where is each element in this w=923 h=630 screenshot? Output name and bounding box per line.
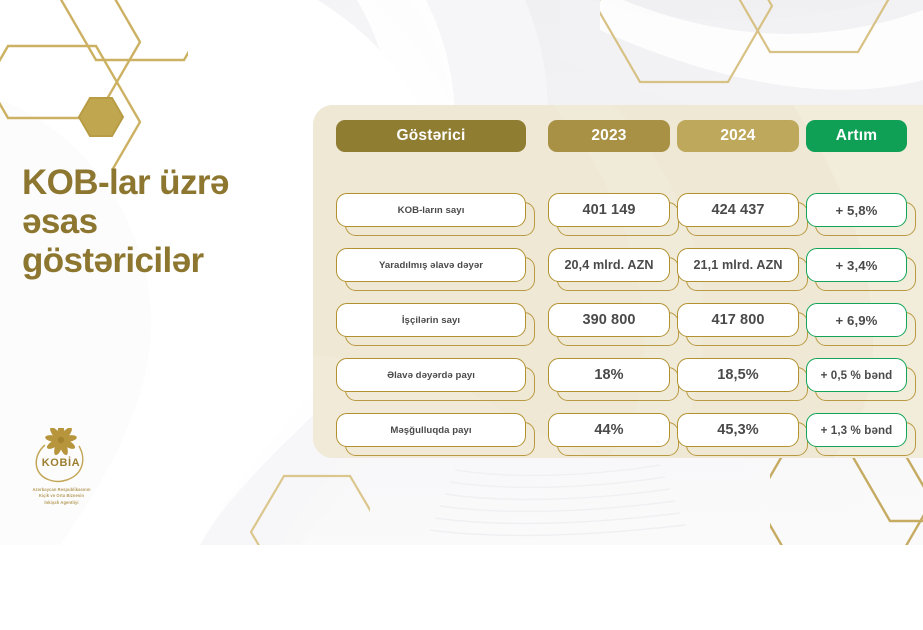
cell-value-growth: + 6,9%: [835, 313, 877, 328]
table-cell-2024: 21,1 mlrd. AZN: [677, 248, 799, 282]
page-title: KOB-lar üzrə əsas göstəricilər: [22, 163, 292, 281]
table-cell-growth: + 6,9%: [806, 303, 907, 337]
cell-value-growth: + 0,5 % bənd: [821, 369, 893, 382]
table-cell-2023: 20,4 mlrd. AZN: [548, 248, 670, 282]
cell-value-growth: + 3,4%: [835, 258, 877, 273]
kobia-logo-subtitle: Azərbaycan Respublikasının Kiçik və Orta…: [14, 487, 109, 506]
slide-canvas: KOB-lar üzrə əsas göstəricilər KOBİA: [0, 0, 923, 545]
cell-value-2023: 44%: [594, 422, 623, 438]
table-cell-2024: 424 437: [677, 193, 799, 227]
cell-value-2023: 401 149: [582, 202, 635, 218]
table-cell-growth: + 5,8%: [806, 193, 907, 227]
cell-value-2024: 417 800: [711, 312, 764, 328]
kobia-subtitle-line-3: İnkişafı Agentliyi: [14, 500, 109, 506]
table-header-2024-label: 2024: [677, 120, 799, 152]
table-row: KOB-ların sayı: [336, 193, 526, 227]
table-cell-2023: 390 800: [548, 303, 670, 337]
table-header-2024: 2024: [677, 120, 799, 152]
cell-indicator: İşçilərin sayı: [402, 315, 460, 326]
cell-value-2024: 45,3%: [717, 422, 759, 438]
page-title-line-3: göstəricilər: [22, 241, 292, 280]
page-title-line-2: əsas: [22, 202, 292, 241]
cell-value-2023: 20,4 mlrd. AZN: [564, 258, 653, 272]
table-row: İşçilərin sayı: [336, 303, 526, 337]
cell-indicator: Əlavə dəyərdə payı: [387, 370, 475, 381]
table-cell-growth: + 0,5 % bənd: [806, 358, 907, 392]
table-header-growth: Artım: [806, 120, 907, 152]
table-cell-2024: 417 800: [677, 303, 799, 337]
table-cell-2023: 44%: [548, 413, 670, 447]
hexagon-decoration-bottom-left: [250, 470, 370, 545]
table-cell-growth: + 3,4%: [806, 248, 907, 282]
table-cell-2024: 45,3%: [677, 413, 799, 447]
cell-value-growth: + 5,8%: [835, 203, 877, 218]
cell-indicator: Məşğulluqda payı: [390, 425, 471, 436]
table-cell-2024: 18,5%: [677, 358, 799, 392]
kobia-logo: KOBİA Azərbaycan Respublikasının Kiçik v…: [14, 428, 109, 506]
hexagon-decoration-top-left: [0, 0, 188, 170]
cell-indicator: KOB-ların sayı: [398, 205, 465, 216]
table-row: Məşğulluqda payı: [336, 413, 526, 447]
table-cell-2023: 401 149: [548, 193, 670, 227]
table-header-2023-label: 2023: [548, 120, 670, 152]
table-header-2023: 2023: [548, 120, 670, 152]
cell-value-2024: 424 437: [711, 202, 764, 218]
metrics-table: Göstərici 2023 2024 Artım KOB-ların sayı: [313, 105, 923, 458]
table-row: Əlavə dəyərdə payı: [336, 358, 526, 392]
table-row: Yaradılmış əlavə dəyər: [336, 248, 526, 282]
table-header-indicator-label: Göstərici: [336, 120, 526, 152]
cell-value-2023: 390 800: [582, 312, 635, 328]
page-title-line-1: KOB-lar üzrə: [22, 163, 292, 202]
cell-value-2024: 18,5%: [717, 367, 759, 383]
metrics-card: Göstərici 2023 2024 Artım KOB-ların sayı: [313, 105, 923, 458]
table-cell-2023: 18%: [548, 358, 670, 392]
cell-value-2023: 18%: [594, 367, 623, 383]
table-cell-growth: + 1,3 % bənd: [806, 413, 907, 447]
cell-value-2024: 21,1 mlrd. AZN: [693, 258, 782, 272]
table-header-indicator: Göstərici: [336, 120, 526, 152]
cell-indicator: Yaradılmış əlavə dəyər: [379, 260, 483, 271]
kobia-flower-icon: KOBİA: [14, 428, 109, 486]
cell-value-growth: + 1,3 % bənd: [821, 424, 893, 437]
table-header-growth-label: Artım: [806, 120, 907, 152]
kobia-wordmark: KOBİA: [42, 456, 80, 469]
